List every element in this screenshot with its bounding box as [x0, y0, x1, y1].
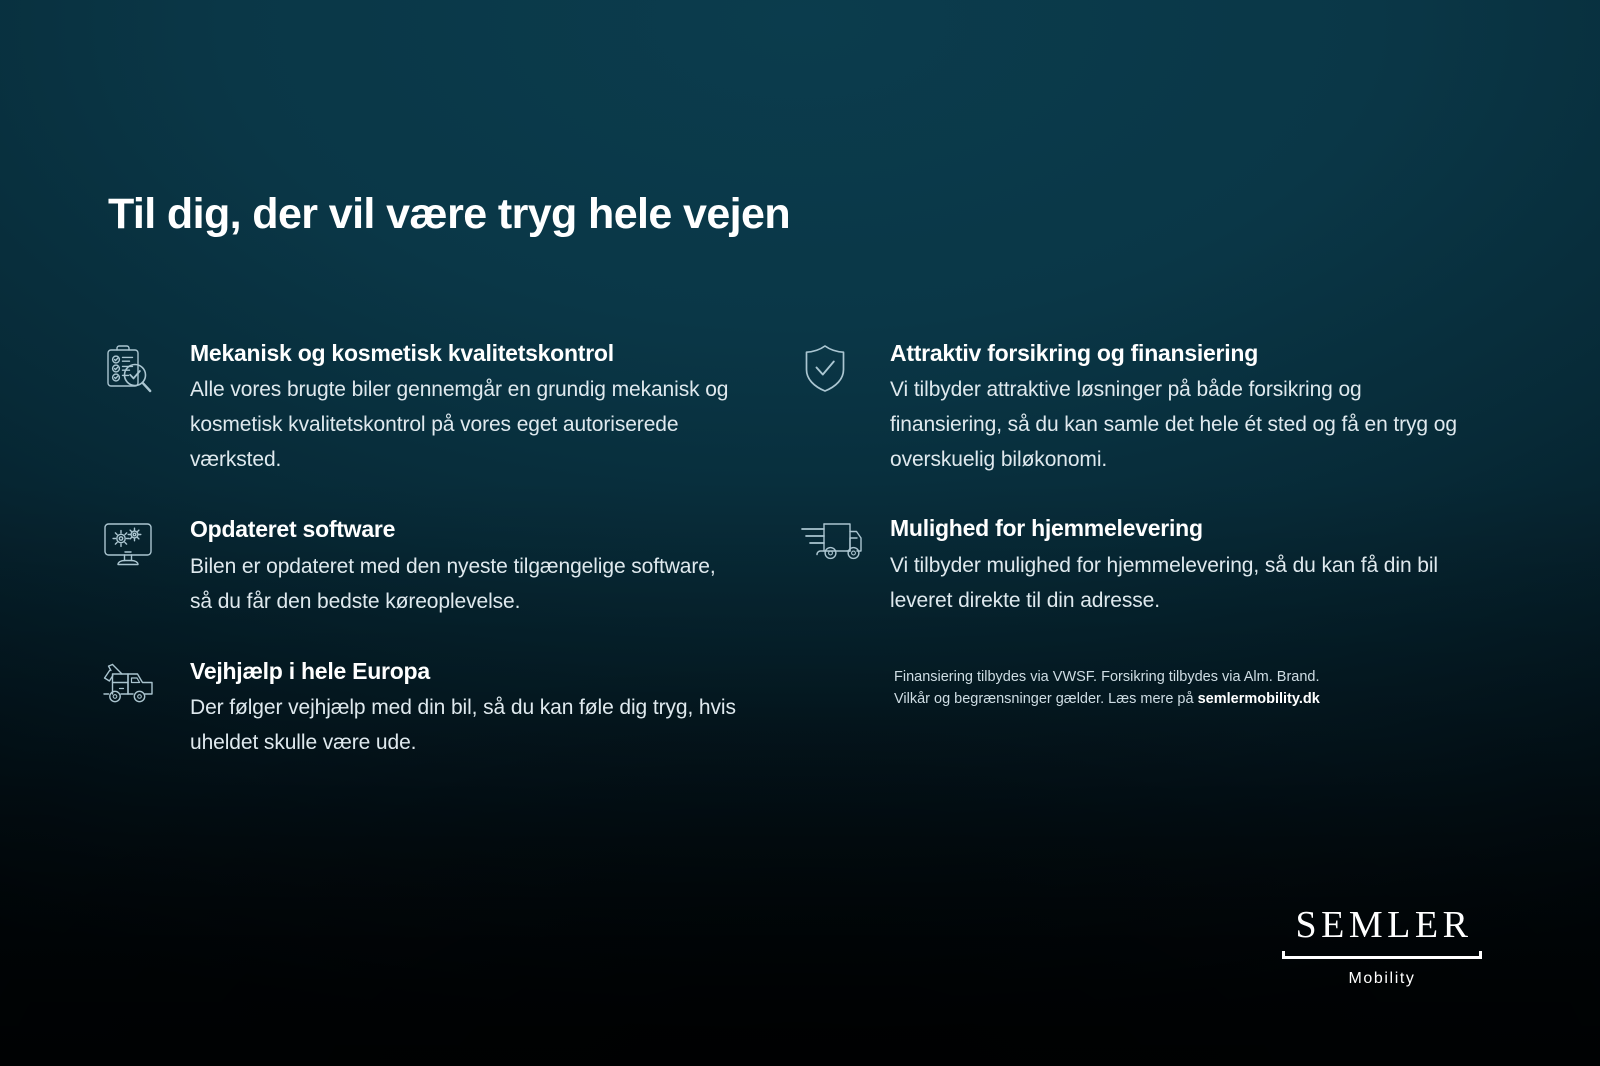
feature-item-opdateret-software: Opdateret software Bilen er opdateret me… [98, 516, 738, 618]
semlermobility-link[interactable]: semlermobility.dk [1198, 691, 1320, 707]
features-column-left: Mekanisk og kosmetisk kvalitetskontrol A… [98, 340, 738, 760]
feature-body: Vejhjælp i hele Europa Der følger vejhjæ… [190, 658, 738, 760]
feature-title: Mulighed for hjemmelevering [890, 515, 1478, 541]
feature-title: Opdateret software [190, 516, 738, 542]
feature-description: Bilen er opdateret med den nyeste tilgæn… [190, 549, 738, 619]
logo-wordmark: SEMLER [1282, 906, 1482, 944]
feature-description: Alle vores brugte biler gennemgår en gru… [190, 372, 738, 477]
page-title: Til dig, der vil være tryg hele vejen [108, 190, 790, 239]
features-column-right: Attraktiv forsikring og finansiering Vi … [798, 340, 1478, 710]
feature-body: Mulighed for hjemmelevering Vi tilbyder … [890, 515, 1478, 617]
feature-title: Attraktiv forsikring og finansiering [890, 340, 1478, 366]
feature-title: Mekanisk og kosmetisk kvalitetskontrol [190, 340, 738, 366]
feature-item-forsikring-finansiering: Attraktiv forsikring og finansiering Vi … [798, 340, 1478, 477]
feature-body: Opdateret software Bilen er opdateret me… [190, 516, 738, 618]
feature-body: Mekanisk og kosmetisk kvalitetskontrol A… [190, 340, 738, 477]
delivery-truck-icon [798, 515, 890, 573]
feature-item-hjemmelevering: Mulighed for hjemmelevering Vi tilbyder … [798, 515, 1478, 617]
disclaimer-line-2: Vilkår og begrænsninger gælder. Læs mere… [894, 688, 1414, 710]
clipboard-checklist-magnifier-icon [98, 340, 190, 398]
logo-subtitle: Mobility [1282, 970, 1482, 988]
shield-check-icon [798, 340, 890, 398]
monitor-gears-icon [98, 516, 190, 574]
feature-item-vejhjaelp: Vejhjælp i hele Europa Der følger vejhjæ… [98, 658, 738, 760]
feature-description: Vi tilbyder mulighed for hjemmelevering,… [890, 548, 1478, 618]
logo-divider [1282, 956, 1482, 959]
disclaimer-line-2-prefix: Vilkår og begrænsninger gælder. Læs mere… [894, 691, 1198, 707]
feature-description: Der følger vejhjælp med din bil, så du k… [190, 690, 738, 760]
poster-canvas: Til dig, der vil være tryg hele vejen [0, 0, 1600, 1066]
disclaimer-line-1: Finansiering tilbydes via VWSF. Forsikri… [894, 666, 1414, 688]
feature-item-kvalitetskontrol: Mekanisk og kosmetisk kvalitetskontrol A… [98, 340, 738, 477]
disclaimer-text: Finansiering tilbydes via VWSF. Forsikri… [894, 666, 1414, 710]
feature-title: Vejhjælp i hele Europa [190, 658, 738, 684]
semler-mobility-logo: SEMLER Mobility [1282, 906, 1482, 988]
feature-description: Vi tilbyder attraktive løsninger på både… [890, 372, 1478, 477]
tow-truck-icon [98, 658, 190, 716]
feature-body: Attraktiv forsikring og finansiering Vi … [890, 340, 1478, 477]
